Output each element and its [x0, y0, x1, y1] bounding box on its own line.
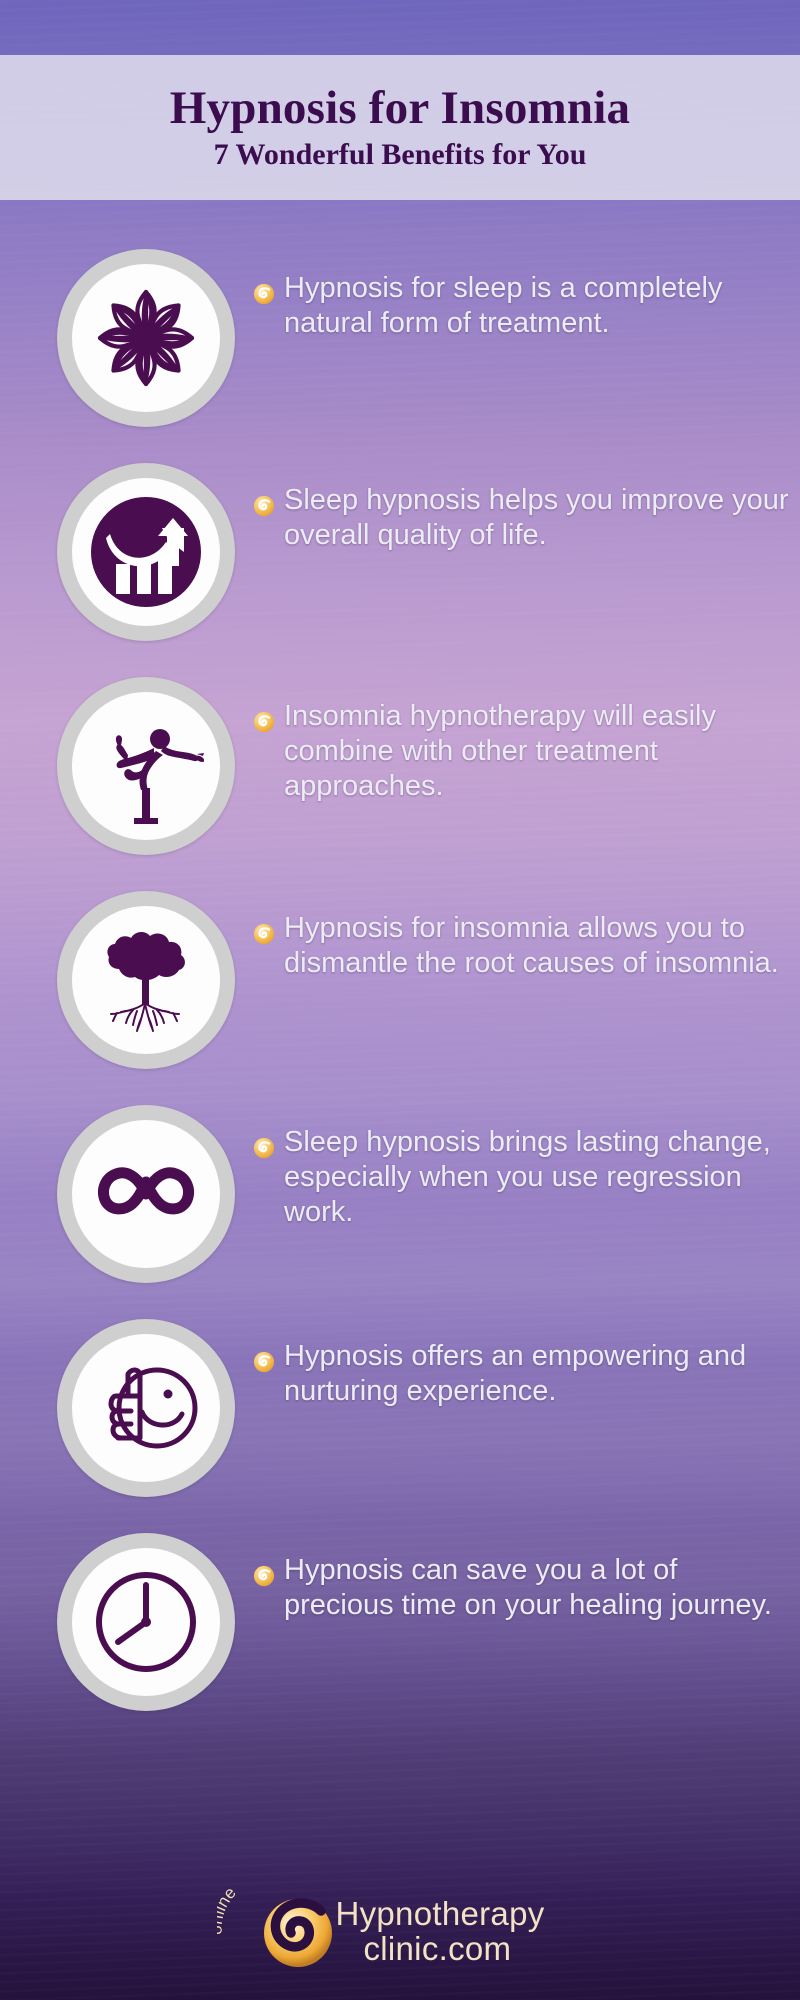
benefit-text: Hypnosis for insomnia allows you to dism… [284, 911, 790, 981]
benefit-row: Hypnosis offers an empowering and nurtur… [0, 1315, 800, 1529]
benefit-icon-badge [57, 249, 235, 427]
benefit-icon-badge [57, 463, 235, 641]
benefit-text: Hypnosis for sleep is a completely natur… [284, 271, 790, 341]
benefit-icon-badge [57, 891, 235, 1069]
spiral-c-logo-icon [255, 1888, 341, 1974]
benefits-list: Hypnosis for sleep is a completely natur… [0, 245, 800, 1743]
benefit-text: Hypnosis offers an empowering and nurtur… [284, 1339, 790, 1409]
page-subtitle: 7 Wonderful Benefits for You [214, 138, 587, 171]
benefit-row: Insomnia hypnotherapy will easily combin… [0, 673, 800, 887]
benefit-text: Sleep hypnosis helps you improve your ov… [284, 483, 790, 553]
benefit-icon-badge [57, 1533, 235, 1711]
header-band: Hypnosis for Insomnia 7 Wonderful Benefi… [0, 55, 800, 200]
benefit-icon-badge [57, 677, 235, 855]
growth-bar-chart-arrow-icon [84, 490, 208, 614]
footer-logo[interactable]: online Hypnotherapy clinic.com [0, 1888, 800, 1974]
benefit-icon-badge [57, 1319, 235, 1497]
infographic-poster: Hypnosis for Insomnia 7 Wonderful Benefi… [0, 0, 800, 2000]
benefit-row: Hypnosis for insomnia allows you to dism… [0, 887, 800, 1101]
benefit-text: Hypnosis can save you a lot of precious … [284, 1553, 790, 1623]
svg-text:online: online [217, 1884, 240, 1935]
benefit-row: Hypnosis for sleep is a completely natur… [0, 245, 800, 459]
spiral-c-bullet-icon [253, 1137, 275, 1159]
logo-line-1: Hypnotherapy [335, 1897, 544, 1930]
thumbs-up-smiley-icon [82, 1344, 210, 1472]
online-word: online [217, 1884, 240, 1935]
spiral-c-bullet-icon [253, 1565, 275, 1587]
benefit-row: Hypnosis can save you a lot of precious … [0, 1529, 800, 1743]
spiral-c-bullet-icon [253, 923, 275, 945]
spiral-c-bullet-icon [253, 283, 275, 305]
benefit-text: Insomnia hypnotherapy will easily combin… [284, 699, 790, 804]
clock-icon [84, 1560, 208, 1684]
benefit-row: Sleep hypnosis brings lasting change, es… [0, 1101, 800, 1315]
spiral-c-bullet-icon [253, 711, 275, 733]
page-title: Hypnosis for Insomnia [170, 84, 630, 133]
yoga-dancer-pose-icon [84, 704, 208, 828]
benefit-row: Sleep hypnosis helps you improve your ov… [0, 459, 800, 673]
lotus-mandala-icon [86, 278, 206, 398]
spiral-c-bullet-icon [253, 1351, 275, 1373]
spiral-c-bullet-icon [253, 495, 275, 517]
tree-with-roots-icon [81, 915, 211, 1045]
logo-line-2: clinic.com [363, 1932, 544, 1965]
benefit-icon-badge [57, 1105, 235, 1283]
infinity-icon [84, 1132, 208, 1256]
benefit-text: Sleep hypnosis brings lasting change, es… [284, 1125, 790, 1230]
